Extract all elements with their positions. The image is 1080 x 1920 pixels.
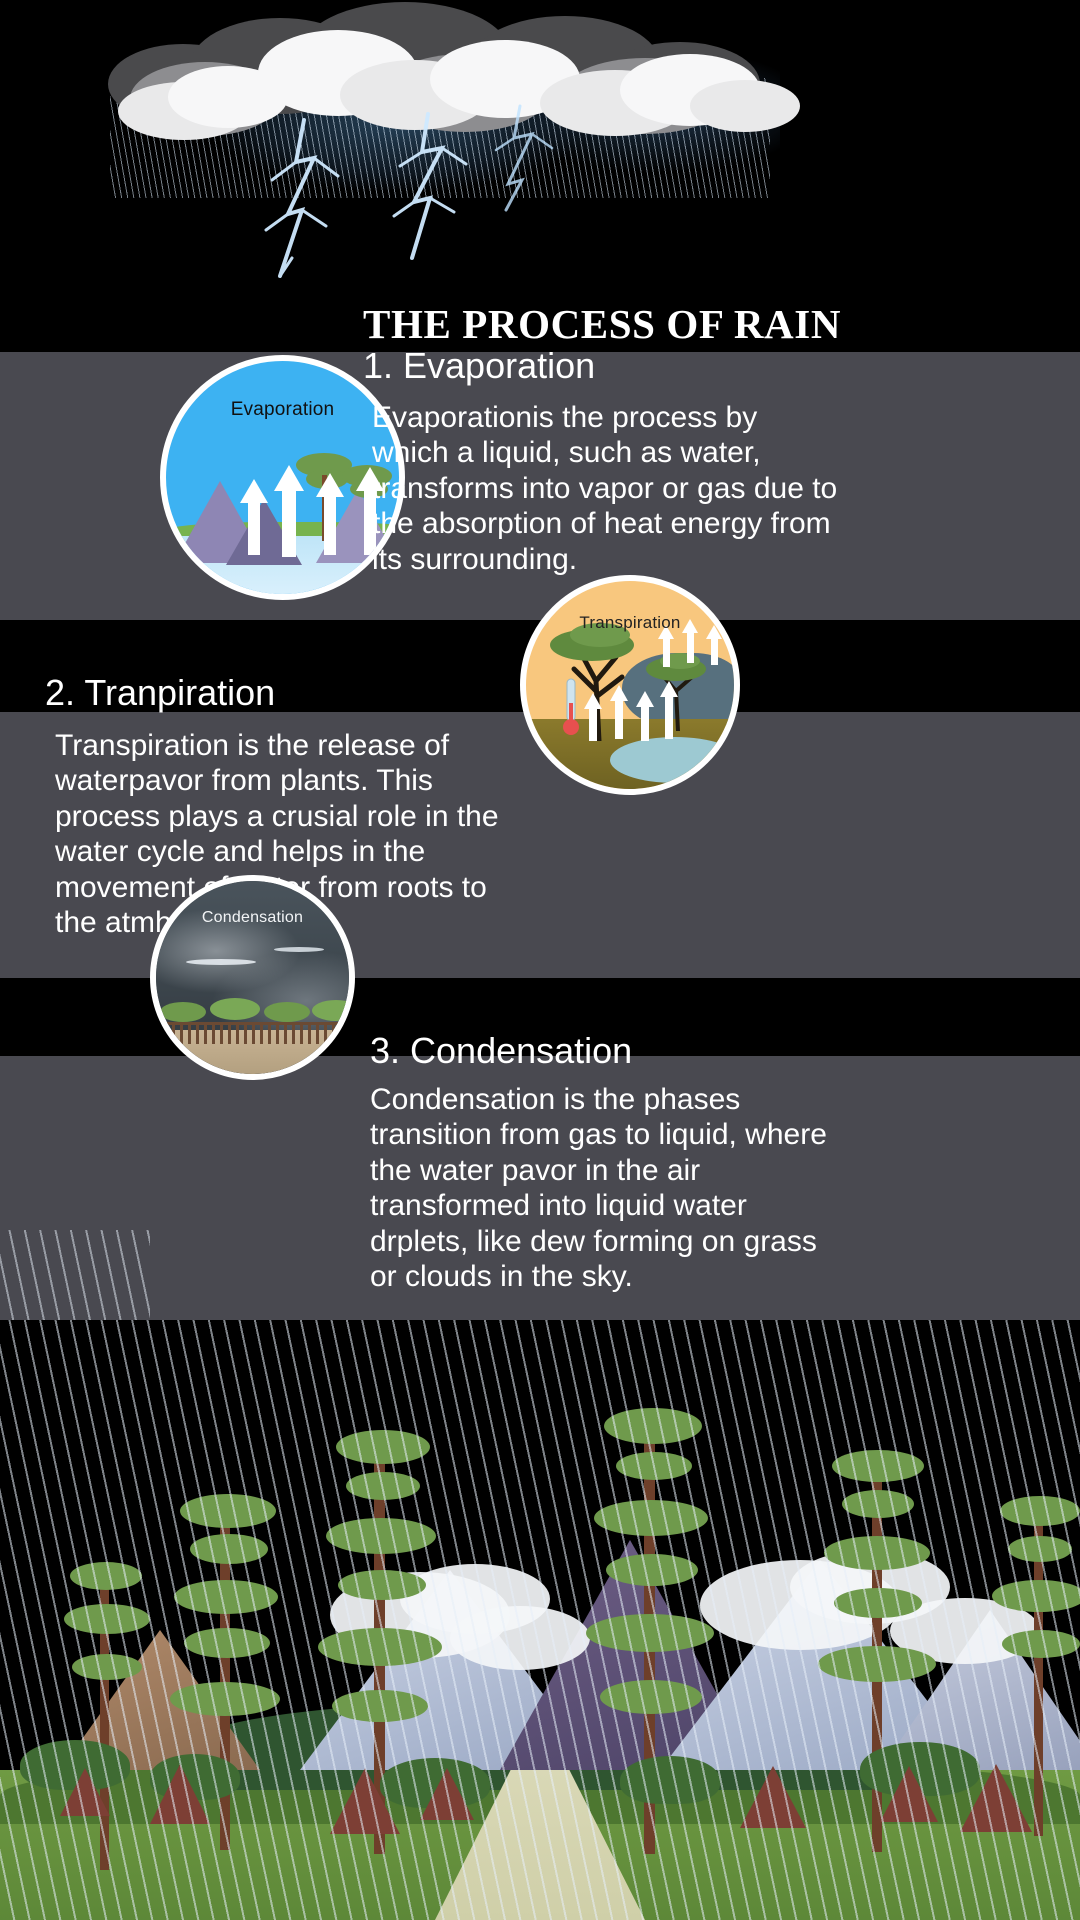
condensation-illustration: Condensation (150, 875, 355, 1080)
heading-transpiration: 2. Tranpiration (45, 672, 275, 714)
thermometer-icon (562, 677, 580, 737)
vapor-arrow-stem (589, 707, 597, 741)
vapor-arrow-stem (663, 637, 670, 667)
lightning-bolt-icon (486, 104, 566, 214)
vapor-arrow-icon (316, 473, 344, 497)
vapor-arrow-stem (248, 501, 260, 555)
vapor-arrow-icon (240, 479, 268, 503)
page-title: THE PROCESS OF RAIN (363, 300, 841, 348)
vapor-arrow-stem (324, 495, 336, 555)
vapor-arrow-stem (711, 637, 718, 665)
tree (638, 641, 718, 731)
water-body (610, 737, 740, 783)
bush (620, 1756, 720, 1804)
bush (20, 1740, 130, 1790)
evaporation-illustration: Evaporation (160, 355, 405, 600)
cloud-wisp (186, 959, 256, 965)
heading-condensation: 3. Condensation (370, 1030, 632, 1072)
vapor-arrow-icon (274, 465, 304, 491)
vapor-arrow-stem (665, 695, 673, 739)
tree-row (150, 996, 355, 1036)
vapor-arrow-stem (615, 699, 623, 739)
transpiration-illustration: Transpiration (520, 575, 740, 795)
cloud (450, 1606, 590, 1670)
vapor-arrow-stem (282, 489, 296, 557)
lightning-bolt-icon (388, 112, 498, 262)
transpiration-circle-label: Transpiration (526, 613, 734, 633)
body-condensation: Condensation is the phases transition fr… (370, 1082, 850, 1294)
cloud-wisp (274, 947, 324, 952)
bush (150, 1754, 240, 1800)
lightning-bolt-icon (258, 118, 368, 278)
storm-header-illustration (0, 0, 1080, 300)
vapor-arrow-stem (641, 705, 649, 741)
vapor-arrow-stem (687, 631, 694, 663)
storm-cloud (690, 80, 800, 132)
evaporation-circle-label: Evaporation (166, 399, 399, 421)
condensation-circle-label: Condensation (156, 909, 349, 927)
forest-rain-illustration (0, 1320, 1080, 1920)
rain-streaks-mid (0, 1230, 150, 1325)
body-evaporation: Evaporationis the process by which a liq… (372, 400, 842, 577)
heading-evaporation: 1. Evaporation (363, 345, 595, 387)
